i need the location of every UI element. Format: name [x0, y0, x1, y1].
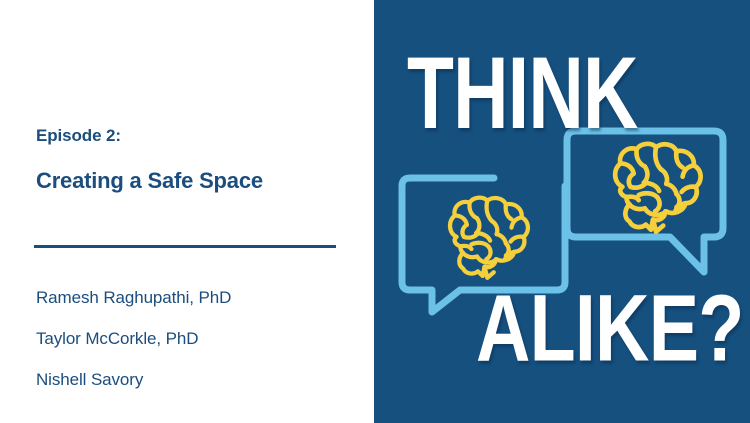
credits-list: Ramesh Raghupathi, PhD Taylor McCorkle, …	[36, 277, 231, 400]
title-word-think: THINK	[407, 43, 638, 145]
speech-bubble-right-icon	[567, 131, 723, 272]
episode-label: Episode 2:	[36, 126, 121, 146]
brain-icon-left	[450, 198, 528, 278]
brain-icon-right	[615, 144, 700, 232]
right-artwork-panel: THINK ALIKE?	[374, 0, 750, 423]
left-text-panel: Episode 2: Creating a Safe Space Ramesh …	[0, 0, 374, 423]
title-word-alike: ALIKE?	[476, 281, 743, 376]
credit-line: Taylor McCorkle, PhD	[36, 318, 231, 359]
podcast-title-slide: Episode 2: Creating a Safe Space Ramesh …	[0, 0, 750, 423]
horizontal-divider	[34, 245, 336, 248]
credit-line: Ramesh Raghupathi, PhD	[36, 277, 231, 318]
credit-line: Nishell Savory	[36, 359, 231, 400]
episode-title: Creating a Safe Space	[36, 168, 263, 194]
